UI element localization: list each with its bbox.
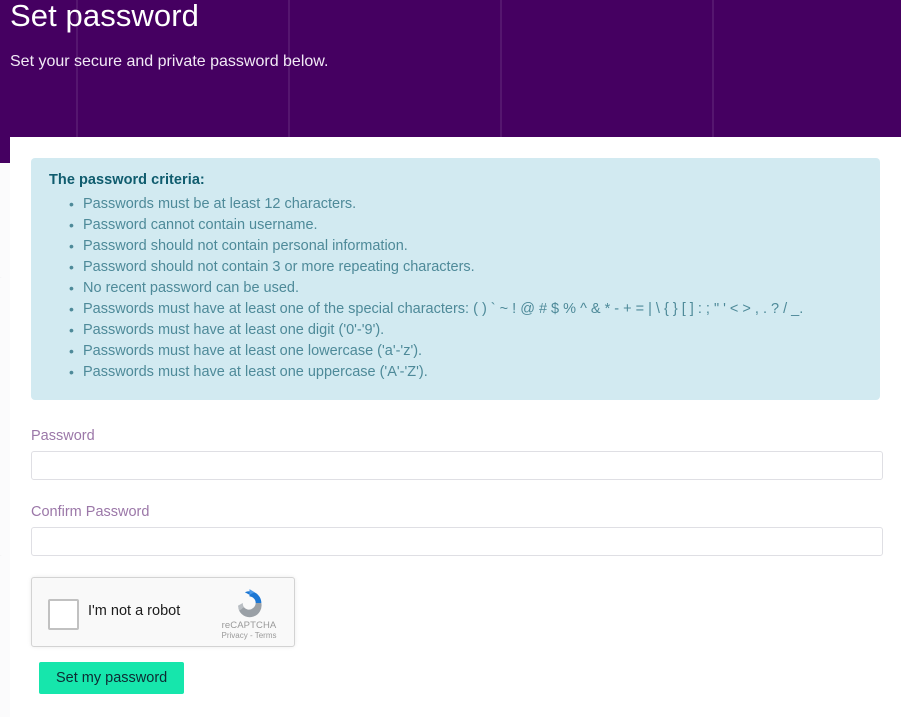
criteria-item: •Passwords must have at least one digit … bbox=[83, 320, 862, 341]
page-header-banner: Set password Set your secure and private… bbox=[0, 0, 901, 137]
recaptcha-brand-name: reCAPTCHA bbox=[213, 620, 285, 631]
confirm-password-label: Confirm Password bbox=[31, 504, 883, 520]
recaptcha-legal-links[interactable]: Privacy - Terms bbox=[213, 631, 285, 641]
set-my-password-button[interactable]: Set my password bbox=[39, 662, 184, 694]
criteria-item-text: Password should not contain personal inf… bbox=[83, 238, 408, 254]
recaptcha-checkbox[interactable] bbox=[48, 599, 79, 630]
bullet-icon: • bbox=[69, 194, 74, 215]
criteria-item-text: Passwords must be at least 12 characters… bbox=[83, 196, 356, 212]
criteria-item: •No recent password can be used. bbox=[83, 278, 862, 299]
confirm-password-field-group: Confirm Password bbox=[31, 504, 883, 556]
bullet-icon: • bbox=[69, 215, 74, 236]
recaptcha-checkbox-label: I'm not a robot bbox=[88, 603, 180, 619]
password-label: Password bbox=[31, 428, 883, 444]
bullet-icon: • bbox=[69, 236, 74, 257]
criteria-item: •Passwords must have at least one of the… bbox=[83, 299, 862, 320]
criteria-item-text: Password should not contain 3 or more re… bbox=[83, 259, 475, 275]
recaptcha-branding: reCAPTCHA Privacy - Terms bbox=[213, 586, 285, 641]
criteria-item-text: No recent password can be used. bbox=[83, 280, 299, 296]
confirm-password-input[interactable] bbox=[31, 527, 883, 556]
password-criteria-panel: The password criteria: •Passwords must b… bbox=[31, 158, 880, 400]
bullet-icon: • bbox=[69, 299, 74, 320]
criteria-item-text: Passwords must have at least one digit (… bbox=[83, 322, 384, 338]
bullet-icon: • bbox=[69, 362, 74, 383]
criteria-list: •Passwords must be at least 12 character… bbox=[49, 194, 862, 383]
criteria-item: •Passwords must have at least one lowerc… bbox=[83, 341, 862, 362]
bullet-icon: • bbox=[69, 320, 74, 341]
content-card: The password criteria: •Passwords must b… bbox=[10, 137, 901, 717]
bullet-icon: • bbox=[69, 341, 74, 362]
criteria-item: •Password cannot contain username. bbox=[83, 215, 862, 236]
recaptcha-logo-icon bbox=[233, 586, 266, 619]
recaptcha-widget[interactable]: I'm not a robot reCAPTCHA Privacy - Term… bbox=[31, 577, 295, 647]
set-password-page: Set password Set your secure and private… bbox=[0, 0, 901, 717]
criteria-item-text: Passwords must have at least one of the … bbox=[83, 301, 803, 317]
criteria-item-text: Passwords must have at least one lowerca… bbox=[83, 343, 422, 359]
criteria-item: •Passwords must have at least one upperc… bbox=[83, 362, 862, 383]
bullet-icon: • bbox=[69, 257, 74, 278]
criteria-item: •Password should not contain 3 or more r… bbox=[83, 257, 862, 278]
criteria-item: •Passwords must be at least 12 character… bbox=[83, 194, 862, 215]
password-input[interactable] bbox=[31, 451, 883, 480]
criteria-item-text: Passwords must have at least one upperca… bbox=[83, 364, 428, 380]
criteria-heading: The password criteria: bbox=[49, 172, 862, 188]
page-title: Set password bbox=[10, 0, 199, 34]
criteria-item: •Password should not contain personal in… bbox=[83, 236, 862, 257]
page-subtitle: Set your secure and private password bel… bbox=[10, 53, 328, 71]
criteria-item-text: Password cannot contain username. bbox=[83, 217, 318, 233]
password-field-group: Password bbox=[31, 428, 883, 480]
bullet-icon: • bbox=[69, 278, 74, 299]
header-left-gutter bbox=[0, 137, 10, 163]
